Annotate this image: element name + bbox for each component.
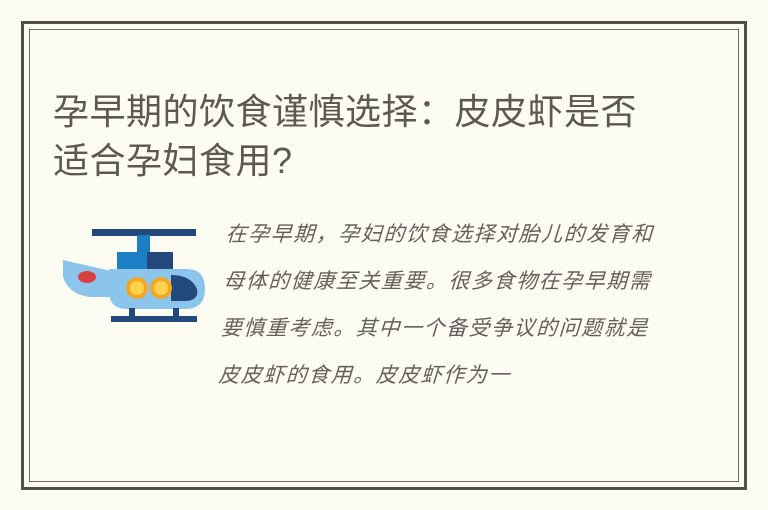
article-body-text: 在孕早期，孕妇的饮食选择对胎儿的发育和母体的健康至关重要。很多食物在孕早期需要慎… [217, 211, 655, 399]
article-card: 孕早期的饮食谨慎选择：皮皮虾是否适合孕妇食用? [0, 0, 768, 510]
page-title: 孕早期的饮食谨慎选择：皮皮虾是否适合孕妇食用? [53, 87, 665, 185]
article-body-section: 在孕早期，孕妇的饮食选择对胎儿的发育和母体的健康至关重要。很多食物在孕早期需要慎… [29, 211, 739, 471]
card-content: 孕早期的饮食谨慎选择：皮皮虾是否适合孕妇食用? [29, 29, 739, 482]
helicopter-icon [55, 215, 211, 323]
